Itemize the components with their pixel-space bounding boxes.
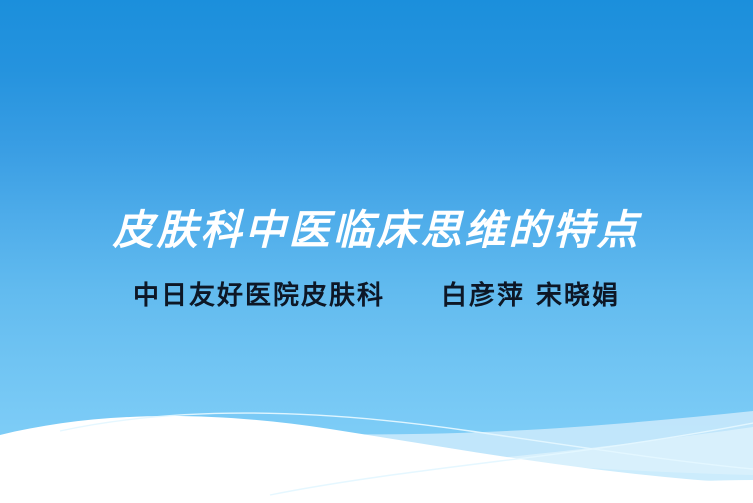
presentation-slide: 皮肤科中医临床思维的特点 中日友好医院皮肤科 白彦萍 宋晓娟 bbox=[0, 0, 753, 503]
slide-wave-decoration bbox=[0, 383, 753, 503]
